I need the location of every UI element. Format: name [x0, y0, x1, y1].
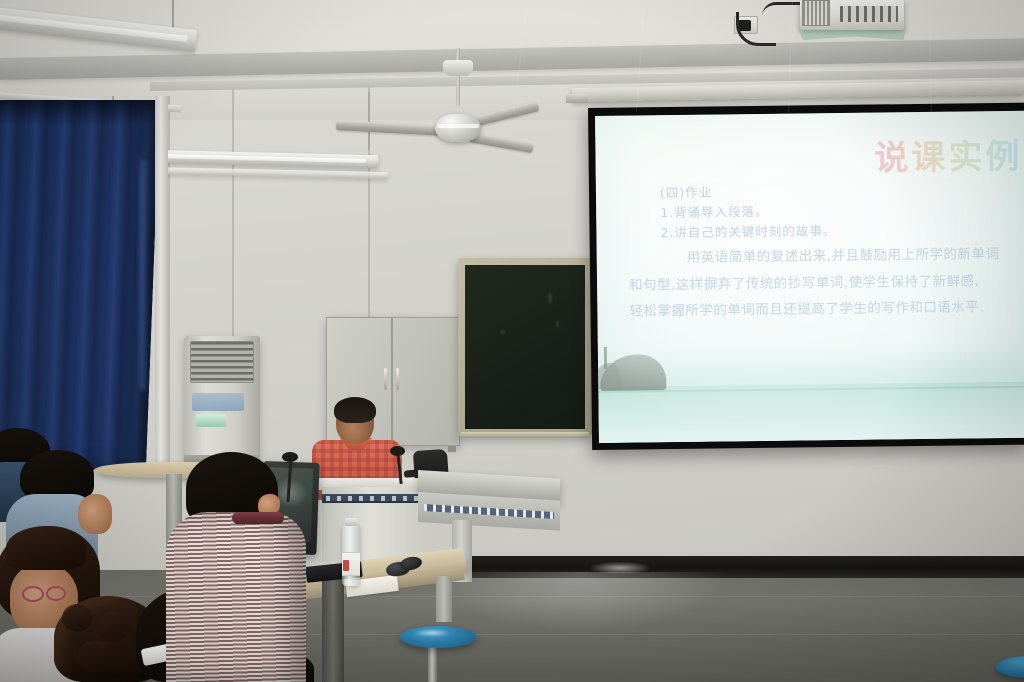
presenter-hair [334, 397, 376, 423]
air-conditioner-display [196, 414, 226, 427]
slide-body: (四)作业 1.背诵导入段落。 2.讲自己的关键时刻的故事。 用英语简单的复述出… [660, 179, 1017, 323]
slide-item-2: 2.讲自己的关键时刻的故事。 [660, 219, 1015, 243]
classroom-photo: 说课实例 (四)作业 1.背诵导入段落。 2.讲自己的关键时刻的故事。 用英语简… [0, 0, 1024, 682]
cabinet-door-split [391, 317, 393, 446]
air-conditioner-panel[interactable] [192, 393, 244, 411]
bottle-cap [345, 518, 357, 526]
cabinet-handle-left[interactable] [384, 368, 387, 390]
slide-title: 说课实例 [874, 129, 1023, 180]
chalk-mark-1 [548, 292, 552, 304]
stool-highlight [414, 629, 450, 637]
slide-paragraph-line-2: 和句型,这样摒弃了传统的抄写单词,使学生保持了新鲜感, [629, 269, 1016, 296]
fan-motor-housing [435, 114, 481, 142]
chalk-mark-3 [500, 330, 505, 334]
desk-leg-left [322, 576, 344, 682]
desk-microphone-icon[interactable] [282, 452, 298, 462]
audience-curly-hair-curl-1 [62, 604, 92, 632]
podium-microphone-icon[interactable] [390, 446, 405, 456]
curtain-top-shadow [0, 100, 160, 126]
fan-downrod [456, 48, 460, 106]
fan-canopy [443, 60, 473, 76]
desk-leg-right [436, 576, 452, 622]
fan-motor-band [437, 124, 479, 128]
stool-post [428, 644, 437, 682]
glasses-icon-right [46, 586, 66, 601]
blue-window-curtain[interactable] [0, 100, 160, 470]
slide-tree-icon [604, 347, 607, 369]
audience-striped-shirt-collar [232, 512, 284, 524]
slide-paragraph-line-3: 轻松掌握所学的单词而且还提高了学生的写作和口语水平. [629, 296, 1016, 323]
audience-curly-hair-curl-2 [96, 612, 130, 642]
audience-woman-glasses-fringe [6, 526, 86, 570]
curtain-edge-highlight [140, 160, 149, 390]
chalk-tray [461, 432, 589, 438]
air-conditioner-grille [190, 341, 254, 383]
projector-ports [840, 6, 898, 22]
floor-grout-h-1 [0, 596, 1024, 597]
wall-baseboard [382, 556, 1024, 578]
audience-striped-shirt-torso [166, 512, 306, 682]
audience-curly-hair-curl-3 [78, 640, 114, 672]
audience-hand-icon [78, 494, 112, 534]
blackboard-surface[interactable] [465, 265, 585, 429]
projection-screen[interactable]: 说课实例 (四)作业 1.背诵导入段落。 2.讲自己的关键时刻的故事。 用英语简… [595, 111, 1024, 443]
bottle-label-accent [343, 560, 349, 571]
projector-cable-upper [762, 2, 804, 16]
glasses-icon-left [22, 586, 44, 602]
podium-indicator-lights [326, 496, 426, 501]
cabinet-handle-right[interactable] [396, 368, 399, 390]
baseboard-reflection [590, 562, 650, 574]
wall-pillar [155, 96, 168, 468]
slide-paragraph-line-1: 用英语简单的复述出来,并且鼓励用上所学的新单词 [661, 243, 1016, 270]
cabinet-foot-right [448, 446, 456, 452]
chalk-mark-2 [556, 320, 559, 328]
projector-vent [802, 0, 830, 26]
screen-mount-bracket [566, 94, 588, 103]
